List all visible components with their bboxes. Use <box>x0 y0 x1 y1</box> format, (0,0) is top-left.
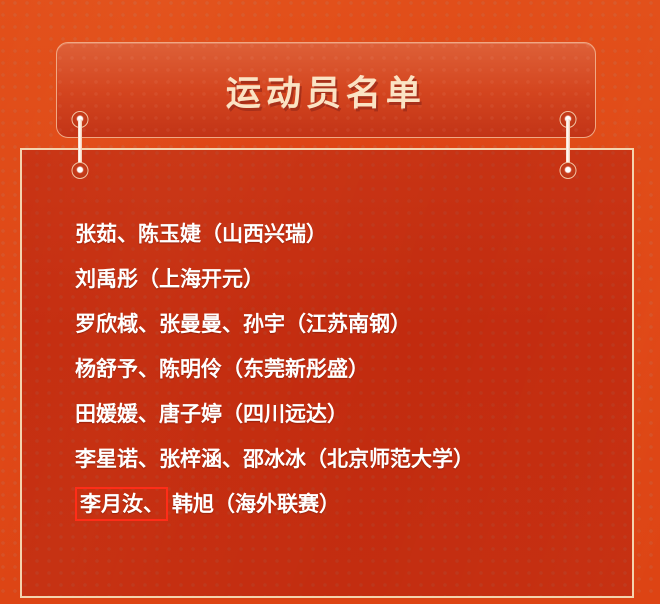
header-panel: 运动员名单 <box>56 42 596 138</box>
poster-stage: 运动员名单 张茹、陈玉婕（山西兴瑞） 刘禹彤（上海开元） 罗欣棫、张曼曼、孙宇（… <box>0 0 660 604</box>
bottom-strip <box>0 600 660 604</box>
hanging-pin-left <box>68 110 92 182</box>
list-item: 罗欣棫、张曼曼、孙宇（江苏南钢） <box>75 302 632 347</box>
page-title: 运动员名单 <box>226 65 427 116</box>
list-item: 李星诺、张梓涵、邵冰冰（北京师范大学） <box>75 437 632 482</box>
hanging-pin-right <box>556 110 580 182</box>
roster-list: 张茹、陈玉婕（山西兴瑞） 刘禹彤（上海开元） 罗欣棫、张曼曼、孙宇（江苏南钢） … <box>22 150 632 527</box>
list-item: 杨舒予、陈明伶（东莞新彤盛） <box>75 347 632 392</box>
list-item: 刘禹彤（上海开元） <box>75 257 632 302</box>
pin-knob-bottom-icon <box>560 162 577 179</box>
list-item: 田媛媛、唐子婷（四川远达） <box>75 392 632 437</box>
list-item: 张茹、陈玉婕（山西兴瑞） <box>75 212 632 257</box>
roster-panel: 张茹、陈玉婕（山西兴瑞） 刘禹彤（上海开元） 罗欣棫、张曼曼、孙宇（江苏南钢） … <box>20 148 634 598</box>
list-item-highlighted: 李月汝、韩旭（海外联赛） <box>75 482 632 527</box>
list-item-label: 韩旭（海外联赛） <box>168 490 340 518</box>
highlight-box: 李月汝、 <box>75 487 168 521</box>
pin-knob-bottom-icon <box>72 162 89 179</box>
